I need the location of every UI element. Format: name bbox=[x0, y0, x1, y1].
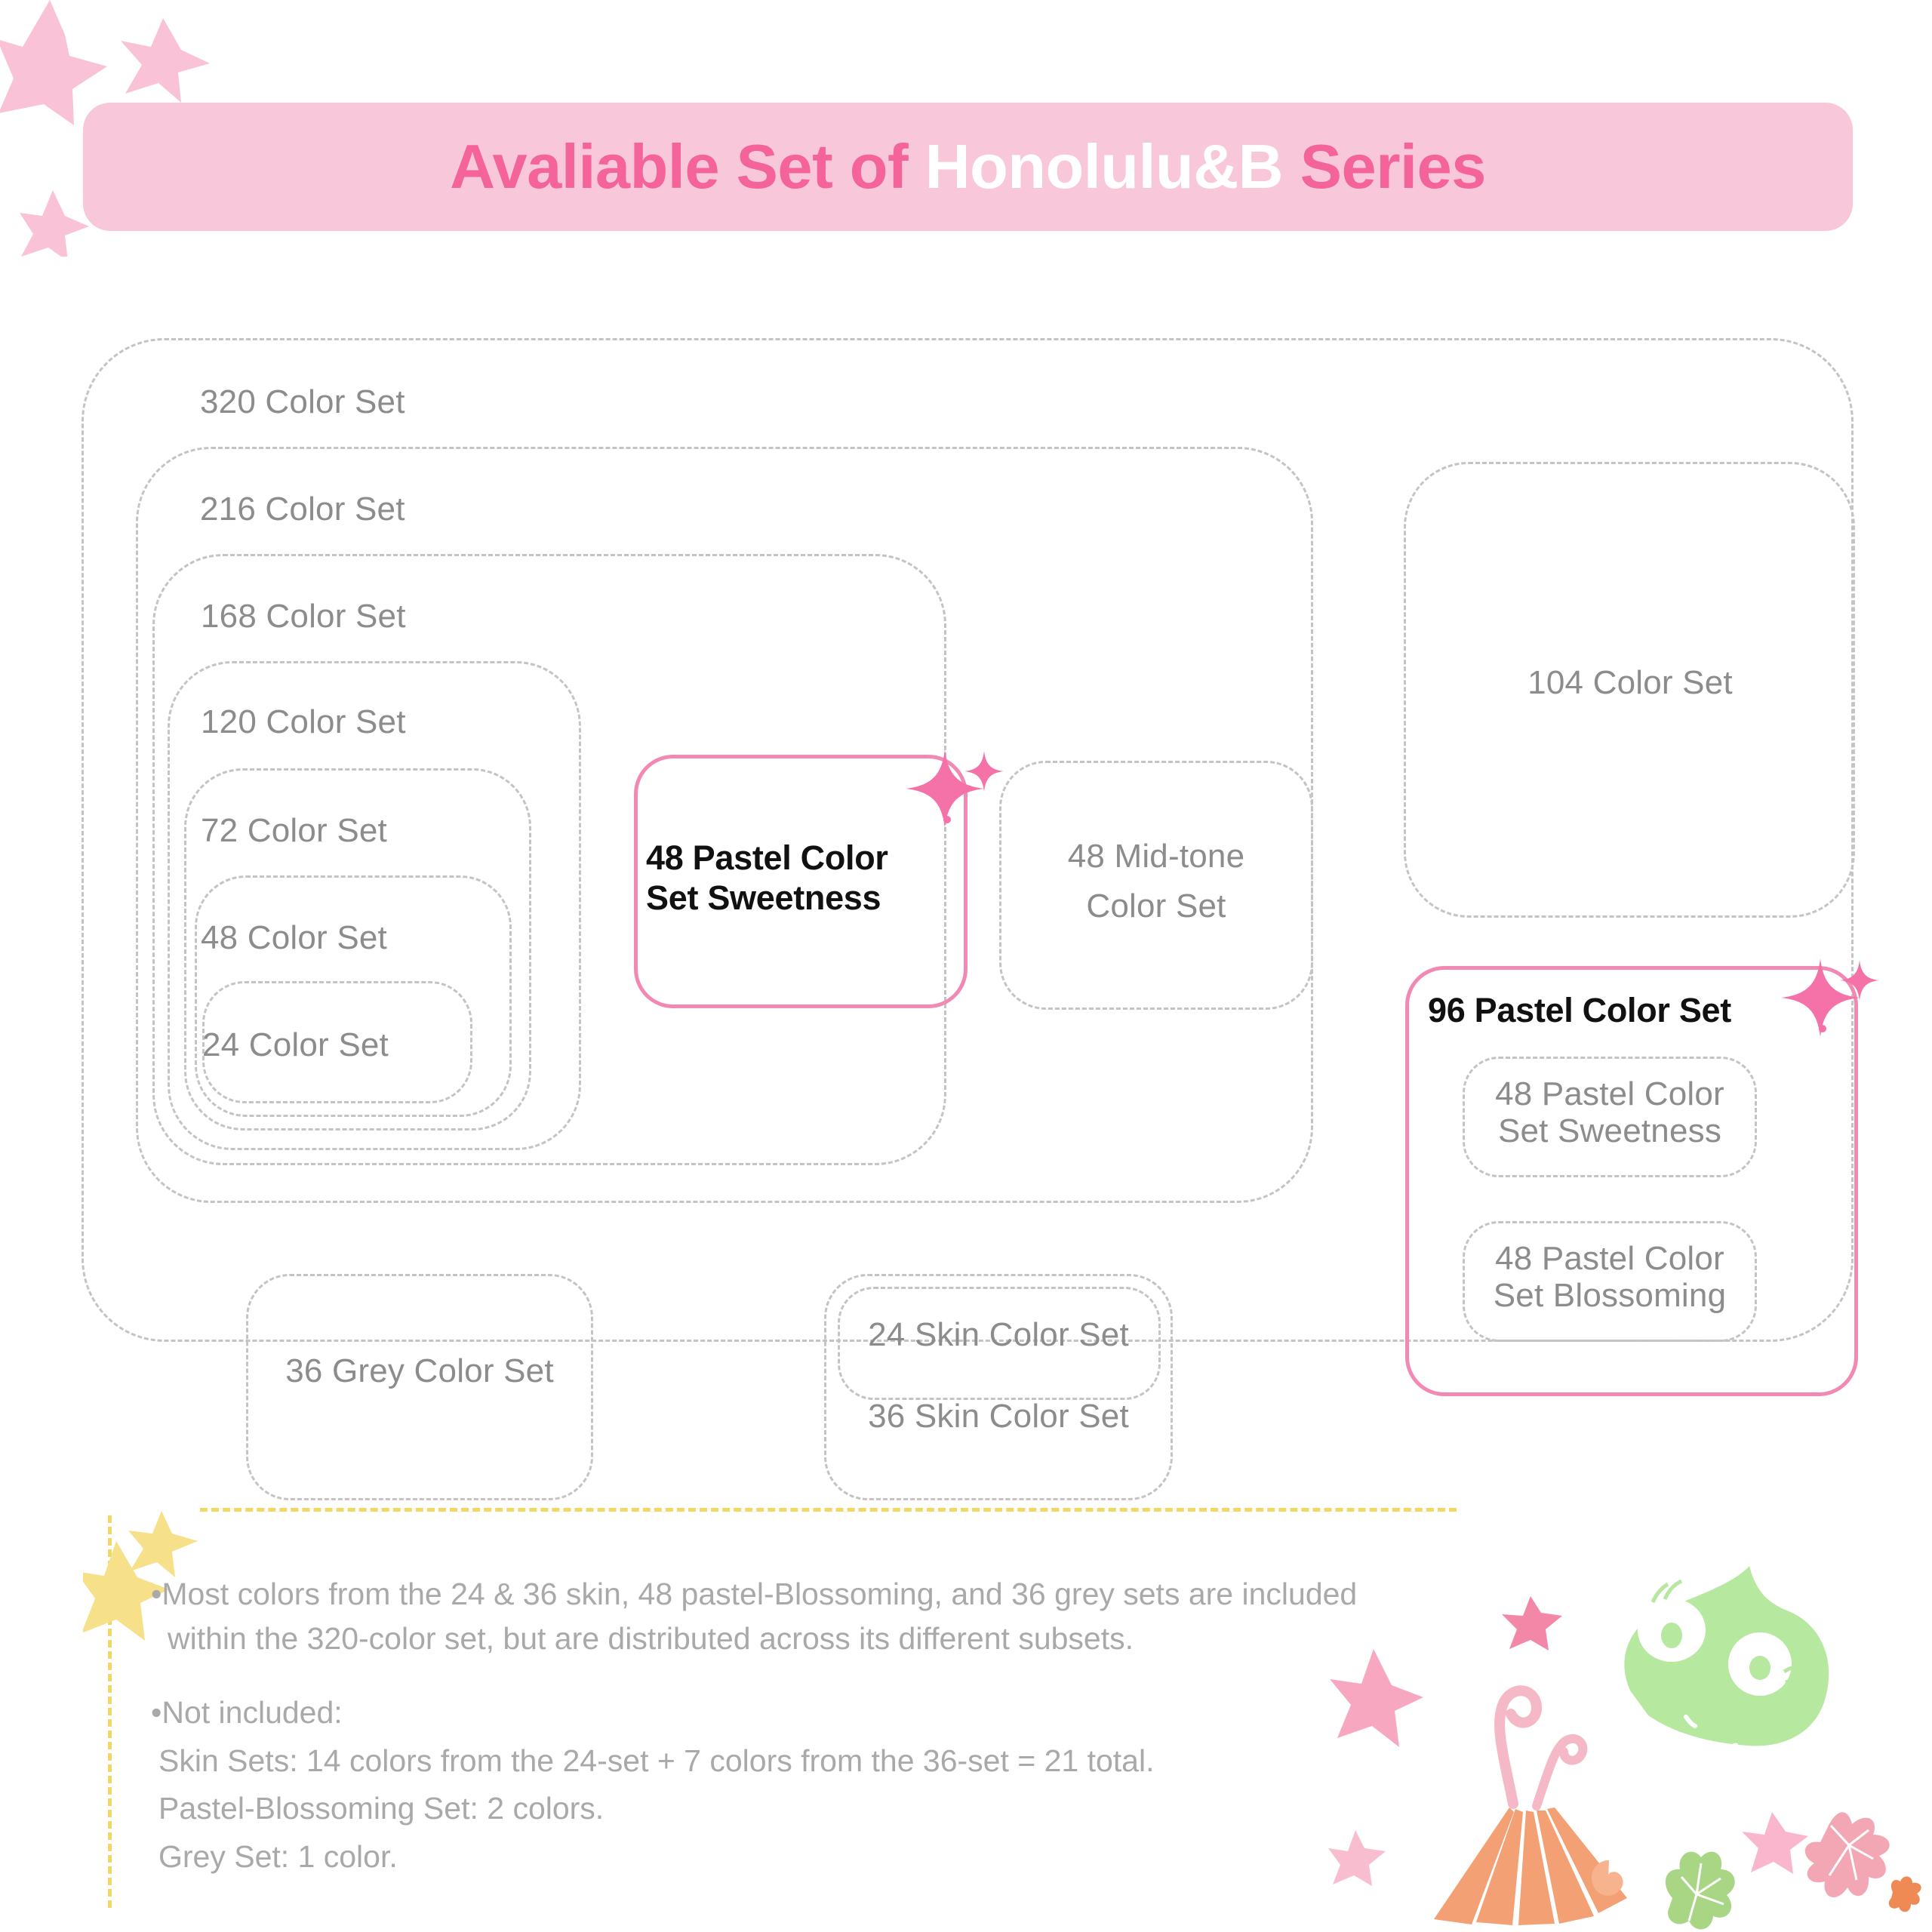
highlight-48-line1: 48 Pastel Color bbox=[646, 838, 888, 877]
sparkle-dot-icon bbox=[1819, 1025, 1826, 1032]
note-2-line-1: •Not included: bbox=[151, 1689, 1328, 1737]
star-icon bbox=[1330, 1649, 1423, 1747]
set-label-320: 320 Color Set bbox=[200, 383, 405, 421]
sparkle-large-icon bbox=[1781, 958, 1860, 1037]
curl-decoration-icon bbox=[1500, 1690, 1583, 1806]
chameleon-icon bbox=[1624, 1566, 1829, 1750]
page-title-bar: Avaliable Set of Honolulu&B Series bbox=[83, 103, 1853, 231]
divider-horizontal bbox=[200, 1508, 1457, 1512]
flower-orange-icon bbox=[1889, 1876, 1921, 1912]
sparkle-icon-48-pastel bbox=[906, 743, 1004, 834]
set-label-48-midtone-line1: 48 Mid-tone bbox=[999, 838, 1313, 875]
note-2-line-2: Skin Sets: 14 colors from the 24-set + 7… bbox=[151, 1737, 1328, 1786]
set-label-48-midtone-line2: Color Set bbox=[999, 888, 1313, 924]
set-label-96-child-sweetness: 48 Pastel Color Set Sweetness bbox=[1463, 1075, 1757, 1150]
child-blossoming-line2: Set Blossoming bbox=[1494, 1277, 1727, 1314]
decorative-illustration bbox=[1328, 1543, 1932, 1932]
set-label-168: 168 Color Set bbox=[201, 598, 406, 635]
title-part-2: Honolulu&B bbox=[925, 131, 1283, 202]
set-label-96-child-blossoming: 48 Pastel Color Set Blossoming bbox=[1463, 1240, 1757, 1315]
child-blossoming-line1: 48 Pastel Color bbox=[1495, 1240, 1724, 1277]
star-icon bbox=[1328, 1830, 1386, 1886]
set-label-120: 120 Color Set bbox=[201, 703, 406, 741]
star-icon bbox=[1502, 1596, 1562, 1651]
star-icon bbox=[1742, 1812, 1808, 1874]
star-icon bbox=[121, 18, 210, 103]
flower-pink-icon bbox=[1805, 1812, 1890, 1897]
child-sweetness-line2: Set Sweetness bbox=[1498, 1112, 1721, 1149]
highlight-label-48-pastel-sweetness: 48 Pastel Color Set Sweetness bbox=[646, 838, 963, 918]
star-icon bbox=[128, 1511, 198, 1577]
page-title: Avaliable Set of Honolulu&B Series bbox=[450, 131, 1486, 203]
note-bullet-1: •Most colors from the 24 & 36 skin, 48 p… bbox=[151, 1572, 1524, 1662]
title-part-1: Avaliable Set of bbox=[450, 131, 925, 202]
set-label-24-skin: 24 Skin Color Set bbox=[824, 1316, 1173, 1354]
sparkle-small-icon bbox=[964, 751, 1004, 792]
sparkle-large-icon bbox=[906, 749, 984, 828]
note-2-line-3: Pastel-Blossoming Set: 2 colors. bbox=[151, 1785, 1328, 1833]
snail-icon bbox=[1592, 1860, 1623, 1896]
sparkle-dot-icon bbox=[943, 816, 951, 823]
star-icon bbox=[0, 0, 107, 125]
flower-green-icon bbox=[1666, 1852, 1735, 1930]
highlight-48-line2: Set Sweetness bbox=[646, 878, 881, 917]
child-sweetness-line1: 48 Pastel Color bbox=[1495, 1075, 1724, 1112]
set-label-36-skin: 36 Skin Color Set bbox=[824, 1398, 1173, 1435]
star-icon bbox=[20, 190, 89, 257]
set-label-24: 24 Color Set bbox=[202, 1026, 389, 1064]
title-part-3: Series bbox=[1283, 131, 1486, 202]
set-label-216: 216 Color Set bbox=[200, 491, 405, 528]
note-1-line-1: •Most colors from the 24 & 36 skin, 48 p… bbox=[151, 1572, 1524, 1617]
set-label-48: 48 Color Set bbox=[201, 919, 387, 957]
note-2-line-4: Grey Set: 1 color. bbox=[151, 1833, 1328, 1881]
sparkle-small-icon bbox=[1840, 960, 1879, 1001]
set-label-36-grey: 36 Grey Color Set bbox=[246, 1352, 593, 1390]
note-1-line-2: within the 320-color set, but are distri… bbox=[151, 1617, 1524, 1661]
set-box-48-midtone[interactable] bbox=[999, 761, 1313, 1010]
set-label-104: 104 Color Set bbox=[1453, 664, 1807, 702]
note-bullet-2: •Not included: Skin Sets: 14 colors from… bbox=[151, 1689, 1328, 1881]
set-label-72: 72 Color Set bbox=[201, 812, 387, 850]
sparkle-icon-96-pastel bbox=[1781, 952, 1879, 1043]
